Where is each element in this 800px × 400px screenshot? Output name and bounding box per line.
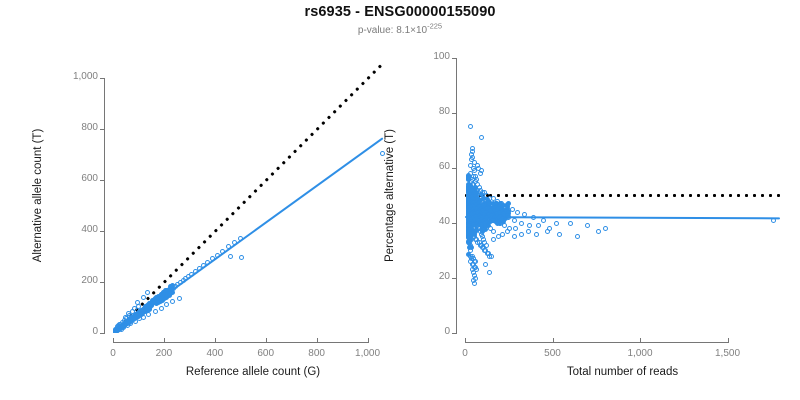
chart-figure: rs6935 - ENSG00000155090 p-value: 8.1×10…	[0, 0, 800, 400]
x-axis-tick	[553, 338, 554, 343]
data-point	[526, 229, 531, 234]
data-point	[485, 197, 490, 202]
x-axis-tick-label: 500	[518, 348, 588, 359]
data-point	[557, 232, 562, 237]
data-point	[472, 281, 477, 286]
data-point	[497, 209, 502, 214]
data-point	[471, 221, 476, 226]
x-axis-tick-label: 1,500	[693, 348, 763, 359]
data-point	[466, 212, 471, 217]
data-point	[534, 232, 539, 237]
data-point	[506, 201, 511, 206]
data-point	[512, 234, 517, 239]
data-point	[531, 215, 536, 220]
x-axis-tick-label: 1,000	[605, 348, 675, 359]
x-axis-tick	[728, 338, 729, 343]
data-point	[512, 218, 517, 223]
y-axis-tick-label: 100	[394, 51, 450, 62]
y-axis-tick-label: 0	[394, 326, 450, 337]
x-axis-tick	[465, 338, 466, 343]
data-point	[554, 221, 559, 226]
y-axis-tick-label: 40	[394, 216, 450, 227]
data-point	[541, 218, 546, 223]
right-scatter-panel: 02040608010005001,0001,500Total number o…	[0, 0, 800, 400]
data-point	[545, 229, 550, 234]
data-point	[568, 221, 573, 226]
y-axis-tick	[452, 333, 457, 334]
x-axis-tick	[640, 338, 641, 343]
data-point	[489, 254, 494, 259]
y-axis-tick-label: 80	[394, 106, 450, 117]
data-point	[466, 197, 471, 202]
data-point	[466, 192, 471, 197]
data-point	[466, 176, 471, 181]
data-point	[502, 223, 507, 228]
data-point	[490, 217, 495, 222]
y-axis-line	[456, 58, 457, 333]
data-point	[479, 192, 484, 197]
plot-area	[465, 58, 780, 333]
data-point	[483, 262, 488, 267]
y-axis-tick	[452, 223, 457, 224]
data-point	[585, 223, 590, 228]
data-point	[519, 232, 524, 237]
data-point	[527, 223, 532, 228]
data-point	[487, 270, 492, 275]
data-point	[479, 135, 484, 140]
data-point	[536, 223, 541, 228]
fifty-percent-line	[465, 194, 780, 197]
y-axis-tick	[452, 58, 457, 59]
data-point	[466, 204, 471, 209]
data-point	[480, 207, 485, 212]
data-point	[503, 216, 508, 221]
x-axis-tick-label: 0	[430, 348, 500, 359]
data-point	[466, 222, 471, 227]
data-point	[467, 226, 472, 231]
data-point	[519, 221, 524, 226]
data-point	[475, 163, 480, 168]
data-point	[475, 209, 480, 214]
y-axis-tick	[452, 278, 457, 279]
data-point	[575, 234, 580, 239]
y-axis-tick-label: 20	[394, 271, 450, 282]
x-axis-line	[465, 342, 728, 343]
data-point	[468, 124, 473, 129]
data-point	[505, 229, 510, 234]
x-axis-title: Total number of reads	[465, 366, 780, 378]
data-point	[513, 226, 518, 231]
y-axis-tick-label: 60	[394, 161, 450, 172]
data-point	[596, 229, 601, 234]
y-axis-title: Percentage alternative (T)	[384, 58, 396, 333]
data-point	[771, 218, 776, 223]
data-point	[515, 210, 520, 215]
data-point	[603, 226, 608, 231]
y-axis-tick	[452, 168, 457, 169]
data-point	[484, 243, 489, 248]
data-point	[500, 232, 505, 237]
data-point	[491, 229, 496, 234]
y-axis-tick	[452, 113, 457, 114]
